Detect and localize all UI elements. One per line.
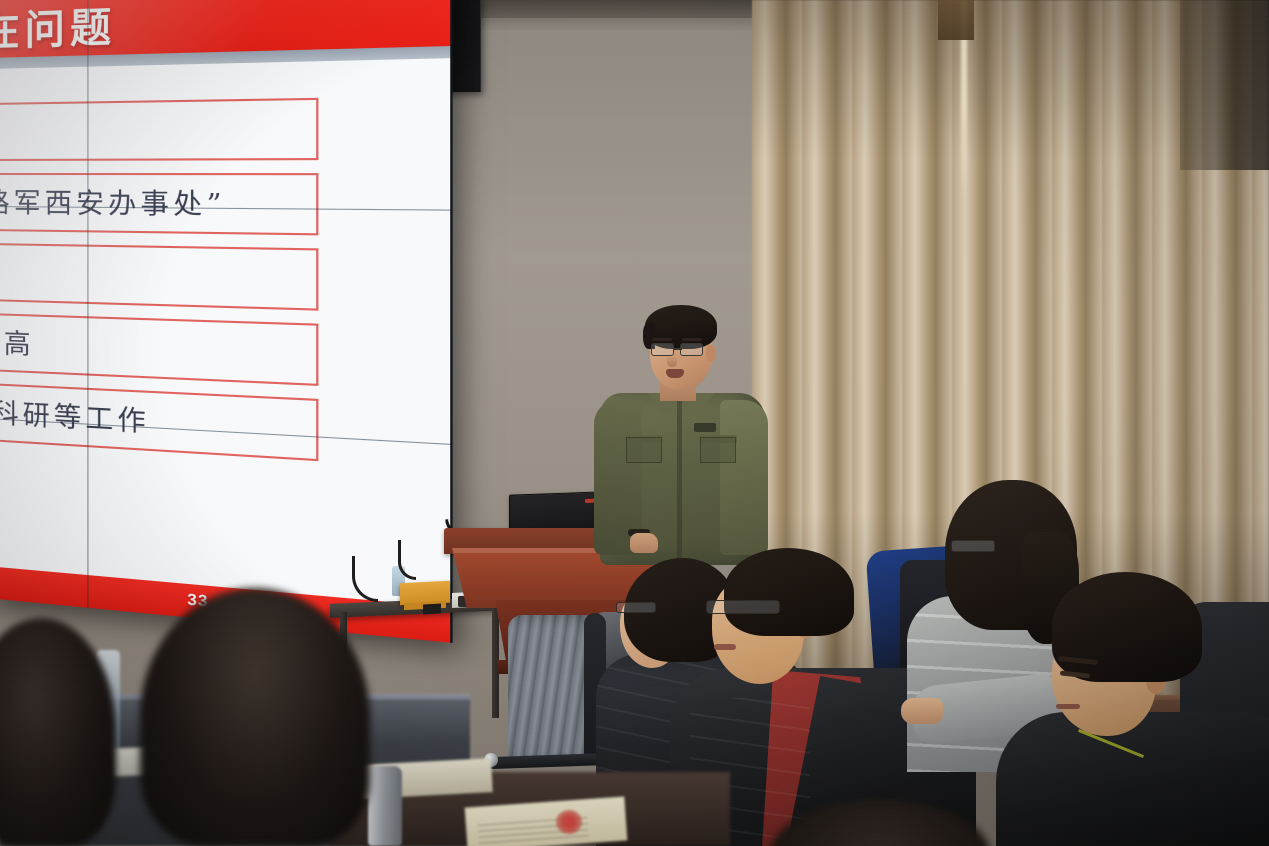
presenter-eyebrow — [682, 338, 702, 341]
audience-hand — [901, 698, 943, 724]
slide-bullet-text: 八路军西安办事处” — [0, 181, 226, 223]
audience-glasses-icon — [706, 600, 780, 614]
audience-glasses-icon — [616, 602, 656, 613]
curtain-rod — [938, 0, 974, 40]
office-chair — [500, 615, 608, 795]
slide-bullet-row: 丰富 — [0, 237, 450, 320]
screen-frame: 在问题 八路军西安办事处” 丰富 — [0, 0, 453, 643]
slide-bullet-row: 八路军西安办事处” — [0, 166, 450, 242]
presenter-eyebrow — [652, 338, 672, 341]
audience-hair — [724, 548, 854, 636]
slide-bullet-text: 待提高 — [0, 320, 35, 363]
glasses-bridge — [674, 348, 682, 350]
presenter-shirt-placket — [677, 400, 682, 560]
audience-torso — [996, 712, 1269, 846]
presenter-shoulder-right — [720, 400, 768, 555]
audience-hair — [1052, 572, 1202, 682]
slide-title: 在问题 — [0, 0, 116, 57]
audience-glasses-icon — [951, 540, 995, 552]
thermos — [368, 766, 402, 846]
audience-mouth — [714, 644, 736, 650]
audience-mouth — [1056, 704, 1080, 709]
glasses-lens — [680, 343, 703, 356]
slide-bullet-box — [0, 243, 318, 311]
presenter-shirt-logo — [694, 423, 716, 432]
presentation-slide: 在问题 八路军西安办事处” 丰富 — [0, 0, 450, 643]
audience-young-man — [1030, 572, 1269, 846]
slide-bullet-row — [0, 89, 450, 166]
presenter-figure — [598, 305, 768, 570]
presenter-hand — [630, 533, 658, 553]
slide-body: 八路军西安办事处” 丰富 待提高 科研等工作 — [0, 58, 450, 607]
presenter-pocket — [700, 437, 736, 463]
presenter-glasses-icon — [649, 343, 711, 357]
presenter-pocket — [626, 437, 662, 463]
screen-panel-seam — [87, 0, 88, 608]
slide-bullet-box — [0, 98, 318, 161]
foreground-head-center — [140, 588, 370, 846]
wall-shadow-right — [1180, 0, 1269, 170]
projection-screen: 在问题 八路军西安办事处” 丰富 — [0, 0, 453, 643]
presenter-nose — [667, 355, 677, 367]
slide-bullet-box — [0, 312, 318, 386]
black-adapter — [423, 604, 441, 615]
red-seal-stamp — [556, 810, 582, 834]
conference-room-photo: 在问题 八路军西安办事处” 丰富 — [0, 0, 1269, 846]
presenter-mouth — [666, 369, 684, 378]
orange-device — [400, 581, 450, 606]
chair-armrest — [486, 753, 614, 769]
